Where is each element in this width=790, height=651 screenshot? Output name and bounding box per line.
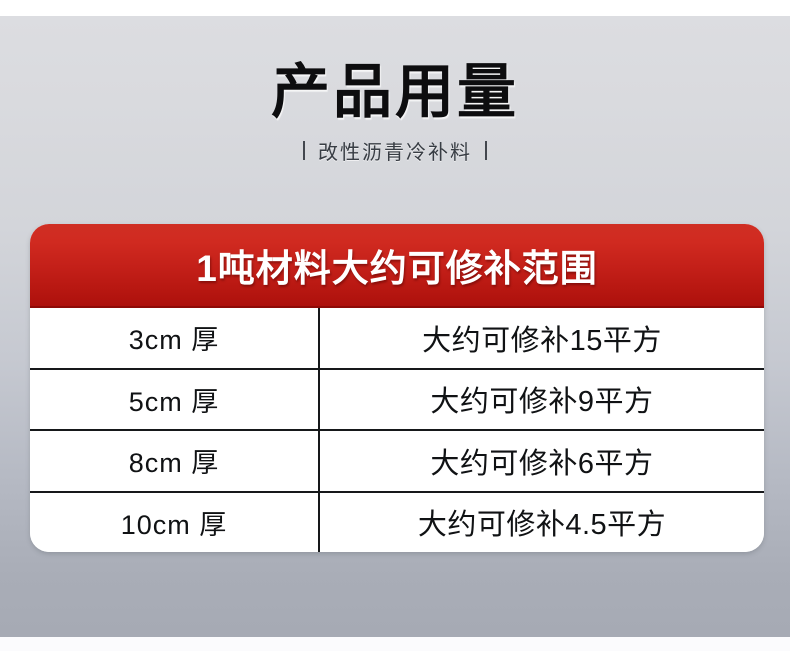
heading-block: 产品用量 改性沥青冷补料 bbox=[0, 62, 790, 165]
table-row: 10cm 厚 大约可修补4.5平方 bbox=[30, 493, 764, 553]
table-row: 5cm 厚 大约可修补9平方 bbox=[30, 370, 764, 432]
top-white-strip bbox=[0, 0, 790, 16]
table-row: 8cm 厚 大约可修补6平方 bbox=[30, 431, 764, 493]
coverage-table: 3cm 厚 大约可修补15平方 5cm 厚 大约可修补9平方 8cm 厚 大约可… bbox=[30, 308, 764, 552]
thickness-cell: 8cm 厚 bbox=[30, 431, 320, 491]
subtitle-divider-right-icon bbox=[485, 141, 487, 160]
coverage-table-banner-label: 1吨材料大约可修补范围 bbox=[196, 238, 598, 292]
coverage-cell: 大约可修补9平方 bbox=[320, 370, 764, 430]
page-subtitle: 改性沥青冷补料 bbox=[318, 136, 472, 165]
bottom-white-strip bbox=[0, 637, 790, 651]
coverage-table-banner: 1吨材料大约可修补范围 bbox=[30, 224, 764, 308]
coverage-cell: 大约可修补15平方 bbox=[320, 308, 764, 368]
thickness-cell: 3cm 厚 bbox=[30, 308, 320, 368]
page-title: 产品用量 bbox=[0, 62, 790, 122]
product-usage-infographic: 产品用量 改性沥青冷补料 1吨材料大约可修补范围 3cm 厚 大约可修补15平方… bbox=[0, 0, 790, 651]
coverage-cell: 大约可修补4.5平方 bbox=[320, 493, 764, 553]
subtitle-row: 改性沥青冷补料 bbox=[0, 136, 790, 165]
subtitle-divider-left-icon bbox=[303, 141, 305, 160]
coverage-cell: 大约可修补6平方 bbox=[320, 431, 764, 491]
coverage-table-card: 1吨材料大约可修补范围 3cm 厚 大约可修补15平方 5cm 厚 大约可修补9… bbox=[30, 224, 764, 552]
thickness-cell: 10cm 厚 bbox=[30, 493, 320, 553]
thickness-cell: 5cm 厚 bbox=[30, 370, 320, 430]
table-row: 3cm 厚 大约可修补15平方 bbox=[30, 308, 764, 370]
